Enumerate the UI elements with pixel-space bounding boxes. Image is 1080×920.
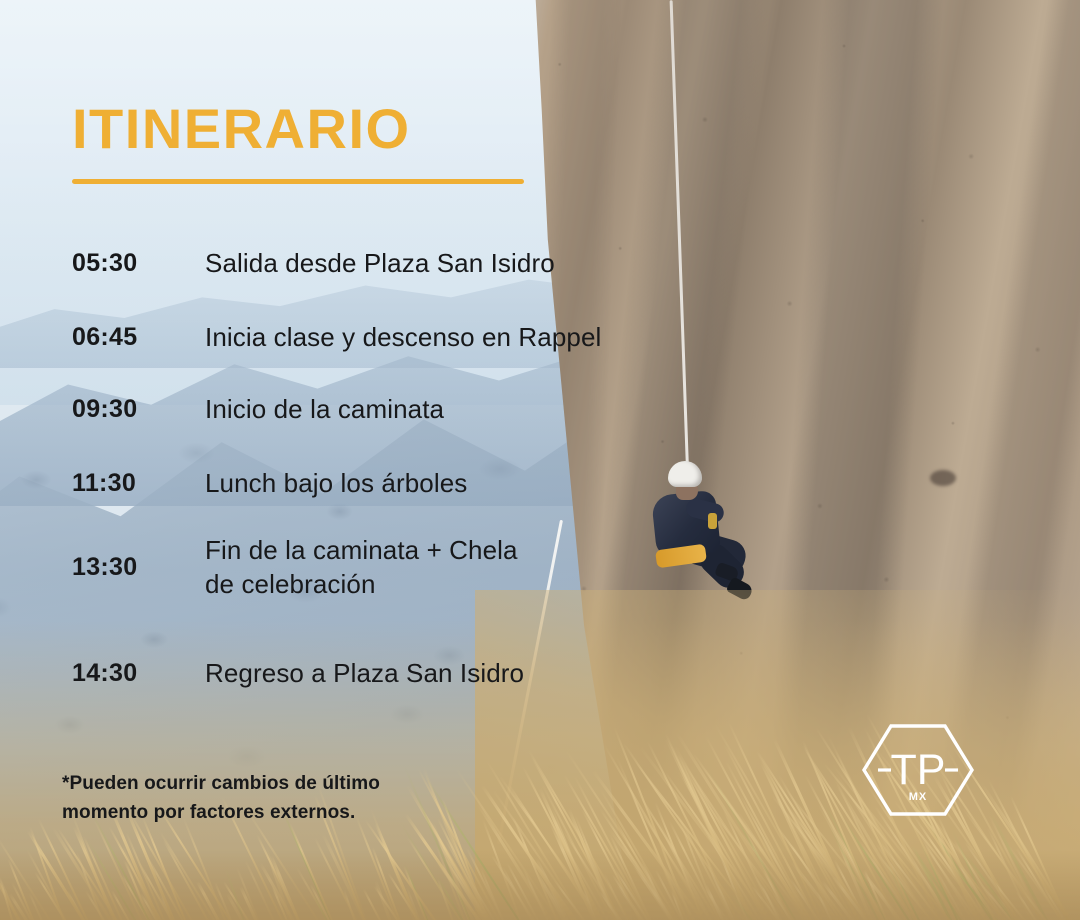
- itinerary-poster: ITINERARIO 05:30 Salida desde Plaza San …: [0, 0, 1080, 920]
- itinerary-row: 05:30 Salida desde Plaza San Isidro: [72, 243, 692, 283]
- itinerary-row: 11:30 Lunch bajo los árboles: [72, 463, 692, 503]
- itinerary-time: 06:45: [72, 323, 205, 352]
- itinerary-row: 09:30 Inicio de la caminata: [72, 389, 692, 429]
- itinerary-description: Fin de la caminata + Chela de celebració…: [205, 533, 550, 602]
- logo-subtext: MX: [909, 791, 928, 803]
- itinerary-description: Lunch bajo los árboles: [205, 466, 467, 500]
- brand-logo: TP MX: [858, 718, 978, 822]
- itinerary-time: 11:30: [72, 469, 205, 498]
- itinerary-time: 14:30: [72, 659, 205, 688]
- logo-monogram: TP: [891, 746, 946, 794]
- itinerary-description: Salida desde Plaza San Isidro: [205, 246, 555, 280]
- title-underline: [72, 179, 524, 184]
- itinerary-time: 09:30: [72, 395, 205, 424]
- itinerary-list: 05:30 Salida desde Plaza San Isidro 06:4…: [72, 243, 692, 694]
- itinerary-row: 13:30 Fin de la caminata + Chela de cele…: [72, 533, 692, 602]
- itinerary-time: 13:30: [72, 553, 205, 582]
- itinerary-row: 14:30 Regreso a Plaza San Isidro: [72, 654, 692, 694]
- itinerary-description: Regreso a Plaza San Isidro: [205, 656, 524, 690]
- disclaimer-line-1: *Pueden ocurrir cambios de último: [62, 769, 380, 798]
- page-title: ITINERARIO: [72, 101, 411, 157]
- poster-content: ITINERARIO 05:30 Salida desde Plaza San …: [0, 0, 1080, 920]
- itinerary-time: 05:30: [72, 249, 205, 278]
- itinerary-description: Inicio de la caminata: [205, 392, 444, 426]
- itinerary-row: 06:45 Inicia clase y descenso en Rappel: [72, 317, 692, 357]
- itinerary-description: Inicia clase y descenso en Rappel: [205, 320, 601, 354]
- disclaimer-line-2: momento por factores externos.: [62, 798, 380, 827]
- disclaimer-note: *Pueden ocurrir cambios de último moment…: [62, 769, 380, 828]
